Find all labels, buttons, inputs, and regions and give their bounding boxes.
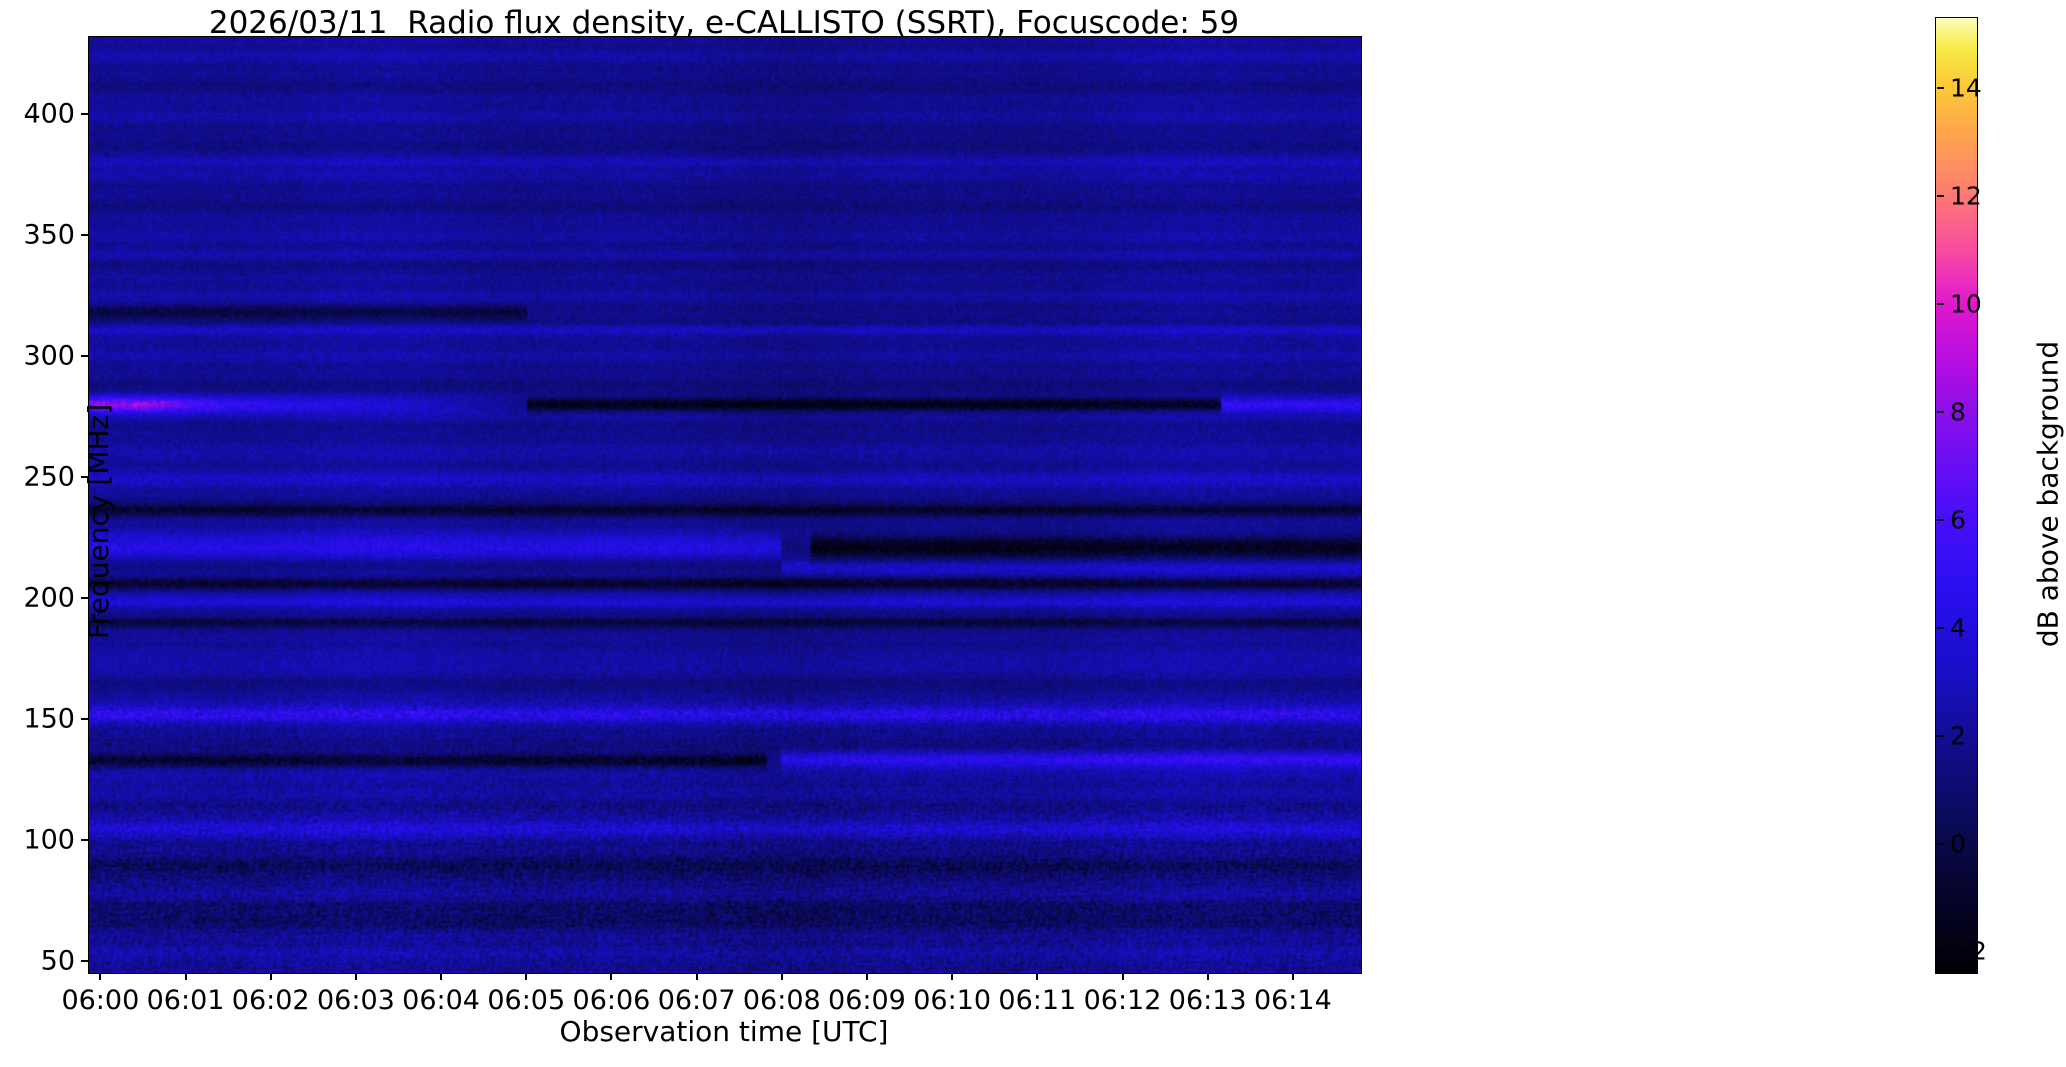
- x-tick-mark: [696, 973, 698, 980]
- y-tick-mark: [81, 355, 88, 357]
- x-tick-label: 06:05: [487, 985, 565, 1016]
- x-axis-label: Observation time [UTC]: [88, 1015, 1360, 1048]
- y-tick-label: 400: [23, 99, 75, 130]
- y-tick-label: 350: [23, 220, 75, 251]
- colorbar-tick-label: 10: [1950, 289, 1982, 318]
- x-tick-label: 06:09: [828, 985, 906, 1016]
- y-tick-label: 50: [41, 945, 75, 976]
- colorbar-tick-label: 2: [1950, 721, 1966, 750]
- y-tick-label: 250: [23, 462, 75, 493]
- x-tick-mark: [1292, 973, 1294, 980]
- x-tick-label: 06:13: [1169, 985, 1247, 1016]
- x-tick-label: 06:03: [317, 985, 395, 1016]
- x-tick-mark: [781, 973, 783, 980]
- y-tick-mark: [81, 718, 88, 720]
- x-tick-mark: [99, 973, 101, 980]
- colorbar-tick-label: 4: [1950, 613, 1966, 642]
- x-tick-label: 06:00: [61, 985, 139, 1016]
- x-tick-mark: [1122, 973, 1124, 980]
- y-tick-mark: [81, 839, 88, 841]
- x-tick-label: 06:10: [913, 985, 991, 1016]
- colorbar-tick-label: −2: [1950, 937, 1987, 966]
- x-tick-mark: [440, 973, 442, 980]
- x-tick-mark: [1207, 973, 1209, 980]
- colorbar-tick-mark: [1937, 735, 1944, 737]
- y-tick-mark: [81, 960, 88, 962]
- colorbar-tick-mark: [1937, 87, 1944, 89]
- colorbar: −202468101214: [1935, 17, 1978, 974]
- spectrogram-axes: 40035030025020015010050 06:0006:0106:020…: [88, 36, 1362, 974]
- colorbar-tick-mark: [1937, 627, 1944, 629]
- y-tick-label: 100: [23, 824, 75, 855]
- y-tick-mark: [81, 476, 88, 478]
- y-tick-label: 200: [23, 583, 75, 614]
- figure-canvas: 2026/03/11 Radio flux density, e-CALLIST…: [0, 0, 2066, 1067]
- x-tick-mark: [951, 973, 953, 980]
- x-tick-label: 06:06: [573, 985, 651, 1016]
- y-tick-mark: [81, 597, 88, 599]
- colorbar-tick-mark: [1937, 303, 1944, 305]
- x-tick-mark: [525, 973, 527, 980]
- x-tick-label: 06:14: [1254, 985, 1332, 1016]
- colorbar-tick-mark: [1937, 843, 1944, 845]
- colorbar-tick-mark: [1937, 195, 1944, 197]
- x-tick-label: 06:04: [402, 985, 480, 1016]
- colorbar-label: dB above background: [2032, 341, 2065, 647]
- x-tick-label: 06:11: [998, 985, 1076, 1016]
- y-tick-label: 150: [23, 704, 75, 735]
- colorbar-label-holder: dB above background: [2030, 0, 2066, 1000]
- x-tick-mark: [610, 973, 612, 980]
- colorbar-tick-label: 6: [1950, 505, 1966, 534]
- x-tick-mark: [355, 973, 357, 980]
- colorbar-tick-label: 8: [1950, 397, 1966, 426]
- colorbar-tick-mark: [1937, 950, 1944, 952]
- x-tick-label: 06:12: [1084, 985, 1162, 1016]
- x-tick-mark: [185, 973, 187, 980]
- y-tick-label: 300: [23, 341, 75, 372]
- x-tick-label: 06:02: [232, 985, 310, 1016]
- y-tick-mark: [81, 234, 88, 236]
- colorbar-tick-label: 14: [1950, 74, 1982, 103]
- spectrogram-image: [89, 37, 1361, 973]
- colorbar-tick-mark: [1937, 519, 1944, 521]
- x-tick-mark: [866, 973, 868, 980]
- x-tick-label: 06:07: [658, 985, 736, 1016]
- x-tick-label: 06:01: [147, 985, 225, 1016]
- x-tick-mark: [270, 973, 272, 980]
- colorbar-tick-label: 0: [1950, 829, 1966, 858]
- y-tick-mark: [81, 113, 88, 115]
- x-tick-mark: [1036, 973, 1038, 980]
- colorbar-tick-mark: [1937, 411, 1944, 413]
- colorbar-tick-label: 12: [1950, 182, 1982, 211]
- x-tick-label: 06:08: [743, 985, 821, 1016]
